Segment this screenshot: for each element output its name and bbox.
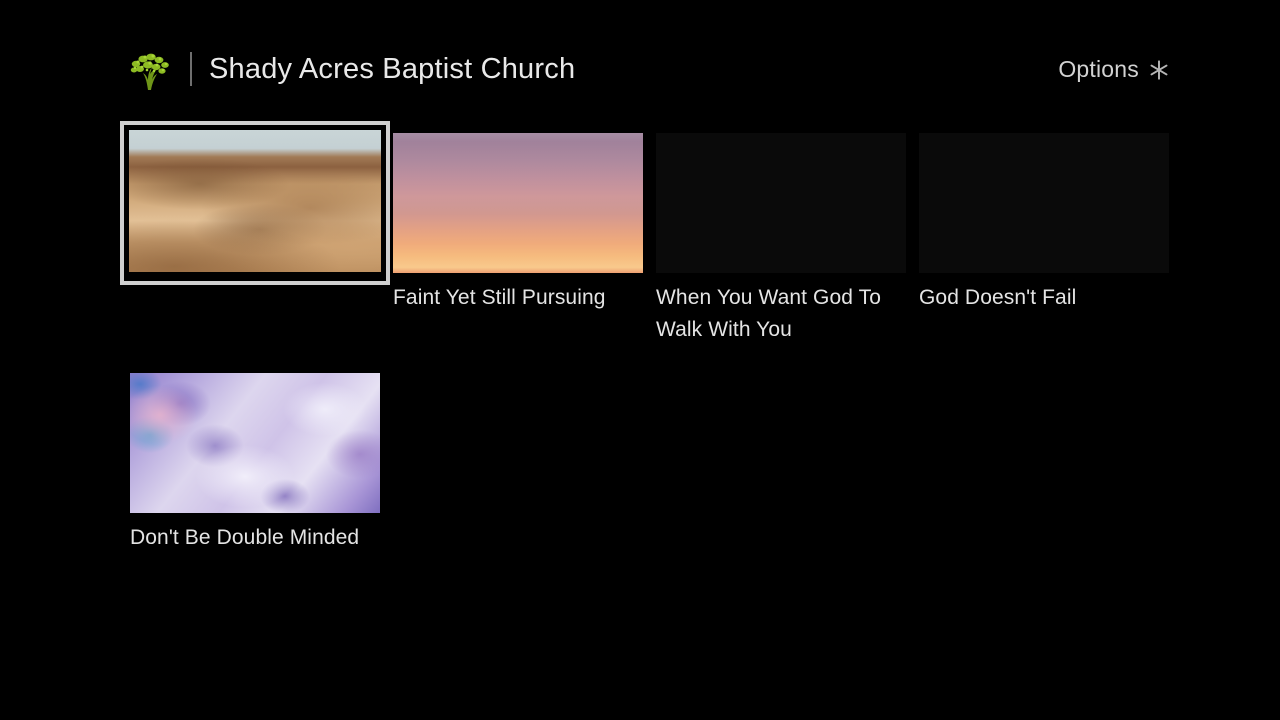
grid-row: Don't Be Double Minded: [130, 373, 1170, 613]
video-grid: Bro Brownie 1 11 2011 Faint Yet Still Pu…: [130, 133, 1170, 613]
thumbnail[interactable]: [656, 133, 906, 273]
selection-frame: [120, 121, 390, 285]
thumbnail[interactable]: [393, 133, 643, 273]
options-button[interactable]: Options: [1058, 53, 1170, 85]
grid-item-label: When You Want God To Walk With You: [656, 282, 906, 346]
app-header: Shady Acres Baptist Church Options: [0, 0, 1280, 118]
asterisk-star-icon: [1148, 59, 1170, 81]
grid-item-label: Faint Yet Still Pursuing: [393, 282, 643, 314]
sunset-sky-thumbnail: [393, 133, 643, 273]
tree-logo-icon: [126, 50, 172, 90]
grid-item-1[interactable]: Faint Yet Still Pursuing: [393, 133, 643, 314]
thumbnail[interactable]: [130, 373, 380, 513]
thumbnail[interactable]: [919, 133, 1169, 273]
header-divider: [190, 52, 192, 86]
sand-dunes-thumbnail: [129, 130, 381, 272]
app-screen: Shady Acres Baptist Church Options: [0, 0, 1280, 720]
options-label: Options: [1058, 54, 1139, 84]
purple-marble-thumbnail: [130, 373, 380, 513]
thumbnail[interactable]: [129, 130, 381, 272]
page-title: Shady Acres Baptist Church: [209, 51, 575, 87]
grid-item-label: God Doesn't Fail: [919, 282, 1169, 314]
grid-row: Bro Brownie 1 11 2011 Faint Yet Still Pu…: [130, 133, 1170, 373]
grid-item-3[interactable]: God Doesn't Fail: [919, 133, 1169, 314]
grid-item-2[interactable]: When You Want God To Walk With You: [656, 133, 906, 346]
grid-item-label: Don't Be Double Minded: [130, 522, 380, 554]
grid-item-4[interactable]: Don't Be Double Minded: [130, 373, 380, 554]
grid-item-0[interactable]: Bro Brownie 1 11 2011: [130, 133, 380, 184]
